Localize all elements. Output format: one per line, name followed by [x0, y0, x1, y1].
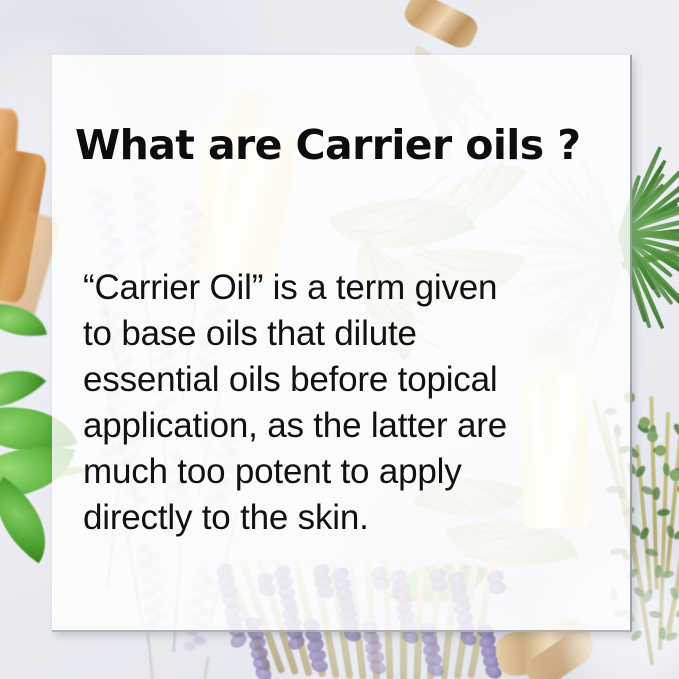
thyme-bud	[647, 431, 658, 442]
body-line: much too potent to apply	[83, 449, 623, 495]
thyme-bud	[655, 445, 666, 456]
body-line: application, as the latter are	[83, 403, 623, 449]
thyme-bud	[670, 470, 679, 481]
body-line: directly to the skin.	[83, 495, 623, 541]
text-content: What are Carrier oils ? “Carrier Oil” is…	[52, 55, 632, 632]
body-line: “Carrier Oil” is a term given	[83, 265, 623, 311]
body-line: to base oils that dilute	[83, 311, 623, 357]
infographic-image: What are Carrier oils ? “Carrier Oil” is…	[0, 0, 679, 679]
thyme-leaf	[657, 508, 671, 517]
thyme-leaf	[672, 422, 679, 437]
thyme-leaf	[653, 487, 661, 500]
page-title: What are Carrier oils ?	[75, 121, 580, 169]
body-line: essential oils before topical	[83, 357, 623, 403]
thyme-bud	[639, 417, 650, 428]
body-paragraph: “Carrier Oil” is a term givento base oil…	[83, 265, 623, 541]
